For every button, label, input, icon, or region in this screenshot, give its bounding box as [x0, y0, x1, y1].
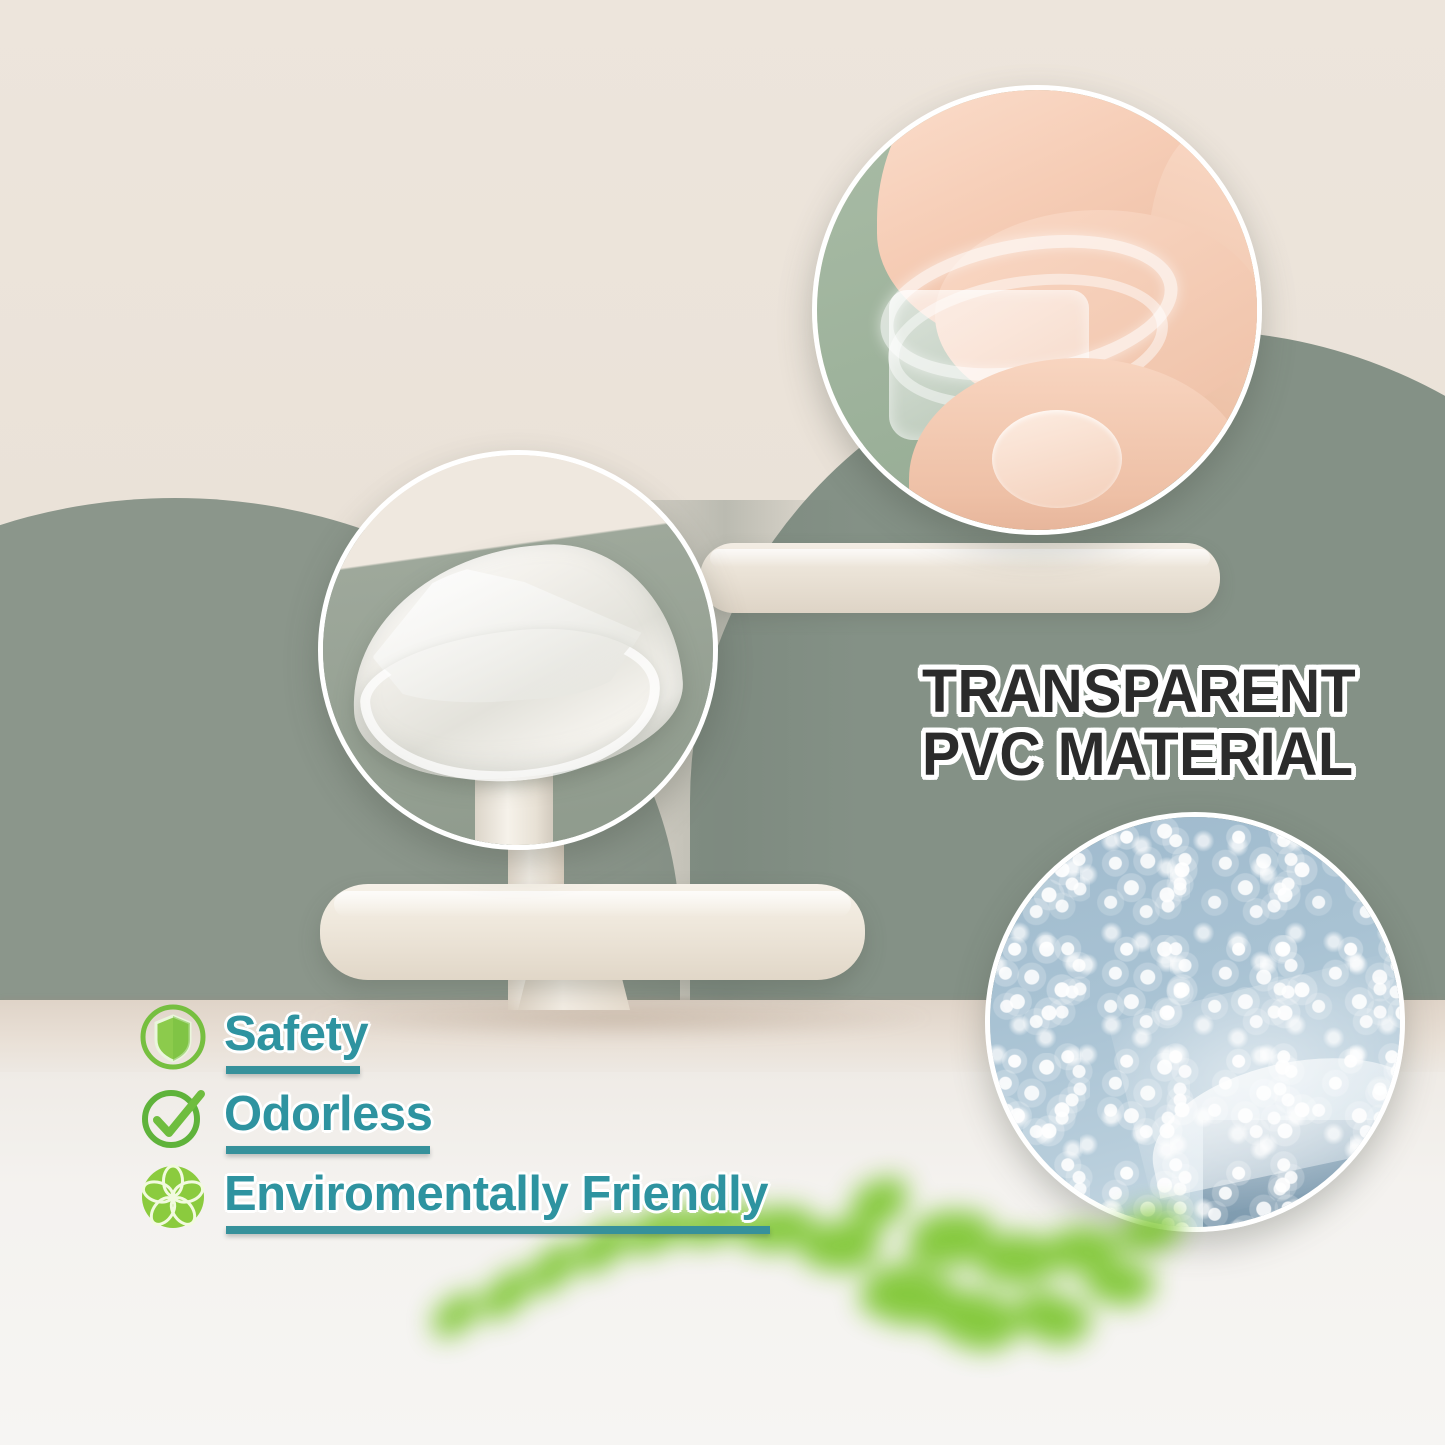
callout-corner-guard-closeup [318, 450, 718, 850]
feature-underline-odorless [226, 1146, 430, 1154]
thumbnail [992, 410, 1122, 508]
feature-item-safety: Safety [138, 1002, 768, 1072]
feature-underline-safety [226, 1066, 360, 1074]
feature-label-environmentally-friendly: Enviromentally Friendly [224, 1167, 768, 1221]
feature-item-odorless: Odorless [138, 1082, 768, 1152]
feature-label-wrap-safety: Safety [224, 1007, 368, 1068]
callout-pvc-resin-beads [985, 812, 1405, 1232]
headline-line-1: TRANSPARENT [922, 657, 1356, 725]
headline: TRANSPARENT PVC MATERIAL [922, 660, 1356, 786]
check-circle-icon [138, 1082, 208, 1152]
feature-underline-environmentally-friendly [226, 1226, 770, 1234]
feature-label-wrap-environmentally-friendly: Enviromentally Friendly [224, 1167, 768, 1228]
headline-line-2: PVC MATERIAL [922, 723, 1356, 786]
feature-label-odorless: Odorless [224, 1087, 432, 1141]
shield-icon [138, 1002, 208, 1072]
flower-icon [138, 1162, 208, 1232]
product-infographic: TRANSPARENT PVC MATERIAL Safety [0, 0, 1445, 1445]
feature-label-safety: Safety [224, 1007, 368, 1061]
display-shelf-bar [700, 543, 1220, 613]
feature-list: Safety Odorless [138, 1002, 768, 1232]
feature-label-wrap-odorless: Odorless [224, 1087, 432, 1148]
feature-item-environmentally-friendly: Enviromentally Friendly [138, 1162, 768, 1232]
callout-hand-holding-guard [812, 85, 1262, 535]
display-pedestal-disc [320, 884, 865, 980]
